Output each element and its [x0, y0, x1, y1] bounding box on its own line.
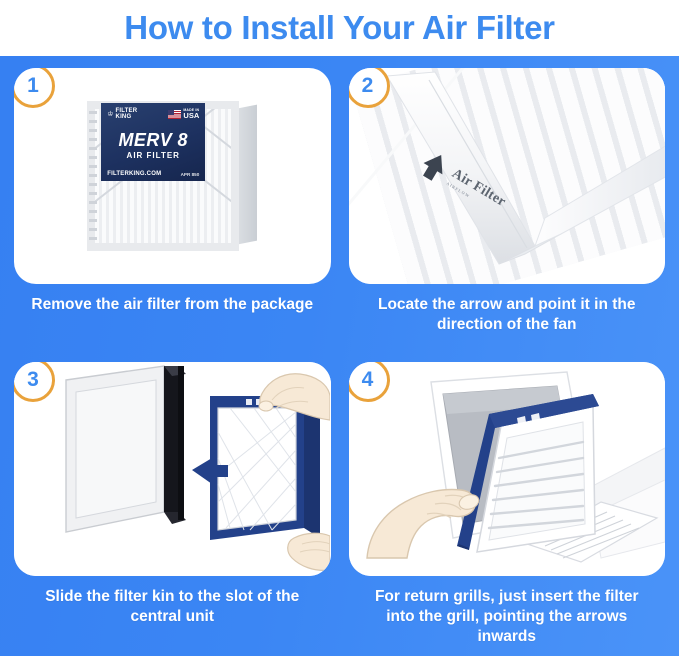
country-text: USA: [183, 111, 199, 120]
air-filter-product-icon: ♔ FILTER KING: [87, 101, 257, 251]
crown-icon: ♔: [107, 111, 113, 118]
step-panel-3: 3: [14, 362, 331, 650]
step-1-artwork: ♔ FILTER KING: [14, 68, 331, 284]
product-type: AIR FILTER: [107, 151, 199, 160]
filter-corner-icon: [349, 68, 666, 284]
step-panel-4: 4: [349, 362, 666, 650]
step-3-artwork: [14, 362, 331, 576]
step-caption-4: For return grills, just insert the filte…: [349, 587, 666, 646]
step-card-2: 2: [349, 68, 666, 284]
step-card-1: 1: [14, 68, 331, 284]
step-panel-1: 1: [14, 68, 331, 356]
step-panel-2: 2: [349, 68, 666, 356]
step-caption-3: Slide the filter kin to the slot of the …: [14, 587, 331, 627]
merv-rating: MERV 8: [107, 131, 199, 149]
hand-icon: [288, 533, 330, 570]
brand-line-2: KING: [116, 114, 132, 120]
apr-rating: APR 850: [181, 172, 200, 177]
steps-grid: 1: [0, 56, 679, 656]
product-label: ♔ FILTER KING: [101, 103, 205, 181]
usa-flag-icon: [168, 110, 181, 119]
infographic-page: How to Install Your Air Filter 1: [0, 0, 679, 656]
step-card-4: 4: [349, 362, 666, 576]
step-card-3: 3: [14, 362, 331, 576]
step-caption-2: Locate the arrow and point it in the dir…: [349, 295, 666, 335]
brand-line-1: FILTER: [116, 108, 138, 114]
page-title: How to Install Your Air Filter: [124, 9, 554, 47]
step-4-artwork: [349, 362, 666, 576]
central-unit-icon: [66, 366, 186, 532]
step-2-artwork: Air Filter AIRFLOW: [349, 68, 666, 284]
website-text: FILTERKING.COM: [107, 171, 161, 177]
step-caption-1: Remove the air filter from the package: [14, 295, 331, 315]
title-bar: How to Install Your Air Filter: [0, 0, 679, 56]
